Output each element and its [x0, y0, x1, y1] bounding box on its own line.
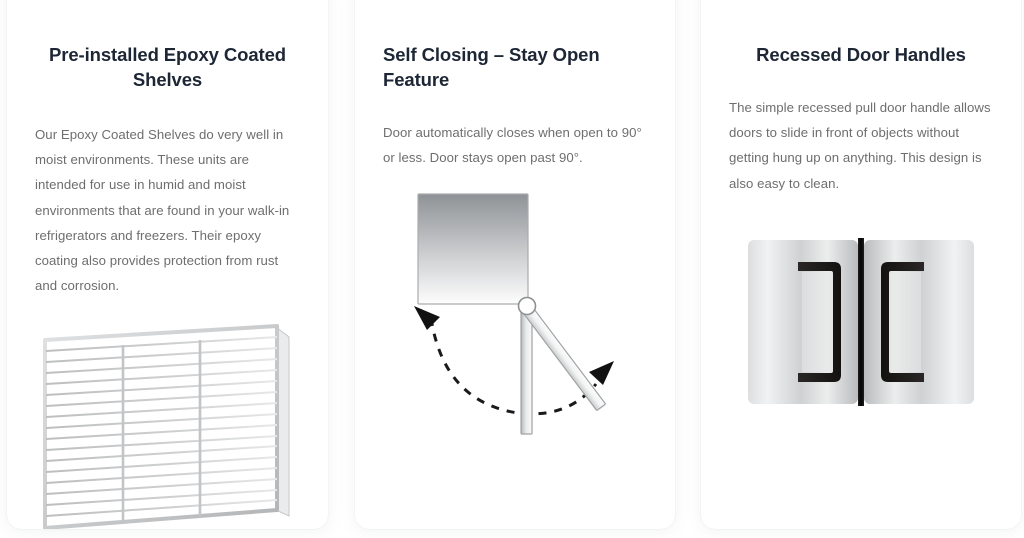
door-closed-position	[521, 306, 532, 434]
feature-card-grid: Pre-installed Epoxy Coated Shelves Our E…	[0, 0, 1024, 538]
door-swing-figure	[381, 188, 649, 458]
feature-card-handles: Recessed Door Handles The simple recesse…	[701, 0, 1021, 529]
swing-arrow-left-icon	[414, 306, 440, 330]
card-body-handles: The simple recessed pull door handle all…	[727, 95, 995, 196]
card-title-handles: Recessed Door Handles	[727, 42, 995, 67]
card-body-self-closing: Door automatically closes when open to 9…	[381, 120, 649, 170]
card-body-shelves: Our Epoxy Coated Shelves do very well in…	[33, 122, 302, 298]
card-title-self-closing: Self Closing – Stay Open Feature	[381, 42, 649, 92]
recessed-door-handles-photo	[746, 236, 976, 408]
handles-figure	[727, 236, 995, 436]
feature-card-self-closing: Self Closing – Stay Open Feature Door au…	[355, 0, 675, 529]
door-open-position	[521, 304, 606, 411]
shelf-figure	[33, 320, 302, 529]
swing-arrow-right-icon	[589, 361, 614, 385]
right-handle-sheen	[893, 272, 921, 372]
card-title-shelves: Pre-installed Epoxy Coated Shelves	[33, 42, 302, 92]
door-center-gap-shadow	[860, 238, 863, 406]
shelf-horizontal-wires	[46, 337, 277, 516]
door-hinge-pivot-icon	[519, 298, 536, 315]
cabinet-body	[418, 194, 528, 304]
feature-card-shelves: Pre-installed Epoxy Coated Shelves Our E…	[7, 0, 328, 529]
self-closing-door-swing-diagram	[400, 188, 630, 444]
epoxy-coated-wire-shelf-illustration	[37, 320, 299, 529]
left-handle-sheen	[802, 272, 830, 372]
